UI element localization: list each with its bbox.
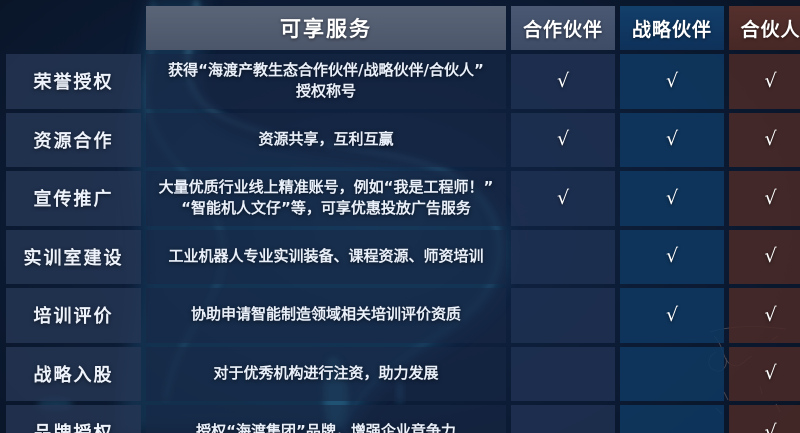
desc-line: 协助申请智能制造领域相关培训评价资质 bbox=[191, 304, 461, 326]
cell-partner: √ bbox=[511, 171, 615, 226]
check-icon: √ bbox=[764, 130, 776, 149]
row-label: 资源合作 bbox=[6, 113, 141, 168]
check-icon: √ bbox=[666, 189, 678, 208]
cell-strategic-partner: √ bbox=[620, 405, 724, 433]
row-label: 实训室建设 bbox=[6, 230, 141, 285]
check-icon: √ bbox=[557, 130, 569, 149]
desc-line: 授权称号 bbox=[168, 81, 484, 103]
cell-shareholder: √ bbox=[729, 171, 800, 226]
row-description: 授权“海渡集团”品牌，增强企业竞争力 bbox=[146, 405, 506, 433]
cell-shareholder: √ bbox=[729, 54, 800, 109]
cell-strategic-partner: √ bbox=[620, 171, 724, 226]
cell-partner: √ bbox=[511, 113, 615, 168]
row-description: 大量优质行业线上精准账号，例如“我是工程师！”“智能机人文仔”等，可享优惠投放广… bbox=[146, 171, 506, 226]
desc-line: 工业机器人专业实训装备、课程资源、师资培训 bbox=[168, 246, 483, 268]
check-icon: √ bbox=[764, 423, 776, 433]
row-description: 资源共享，互利互赢 bbox=[146, 113, 506, 168]
desc-line: 获得“海渡产教生态合作伙伴/战略伙伴/合伙人” bbox=[168, 60, 484, 82]
check-icon: √ bbox=[764, 189, 776, 208]
cell-partner: √ bbox=[511, 230, 615, 285]
row-label: 战略入股 bbox=[6, 347, 141, 402]
cell-partner: √ bbox=[511, 405, 615, 433]
check-icon: √ bbox=[666, 130, 678, 149]
desc-line: “智能机人文仔”等，可享优惠投放广告服务 bbox=[159, 198, 494, 220]
table-header-partner: 合作伙伴 bbox=[511, 6, 615, 50]
cell-shareholder: √ bbox=[729, 347, 800, 402]
desc-line: 对于优秀机构进行注资，助力发展 bbox=[213, 363, 438, 385]
cell-strategic-partner: √ bbox=[620, 230, 724, 285]
cell-strategic-partner: √ bbox=[620, 347, 724, 402]
desc-line: 大量优质行业线上精准账号，例如“我是工程师！” bbox=[159, 177, 494, 199]
row-label: 培训评价 bbox=[6, 288, 141, 343]
check-icon: √ bbox=[557, 189, 569, 208]
row-description: 对于优秀机构进行注资，助力发展 bbox=[146, 347, 506, 402]
check-icon: √ bbox=[764, 364, 776, 383]
check-icon: √ bbox=[666, 72, 678, 91]
check-icon: √ bbox=[764, 247, 776, 266]
table-header-strategic-partner: 战略伙伴 bbox=[620, 6, 724, 50]
cell-partner: √ bbox=[511, 288, 615, 343]
table-header-service: 可享服务 bbox=[146, 6, 506, 50]
check-icon: √ bbox=[764, 306, 776, 325]
table-header-blank bbox=[6, 6, 141, 50]
row-label: 品牌授权 bbox=[6, 405, 141, 433]
check-icon: √ bbox=[764, 72, 776, 91]
check-icon: √ bbox=[666, 306, 678, 325]
cell-partner: √ bbox=[511, 54, 615, 109]
desc-line: 资源共享，互利互赢 bbox=[258, 129, 393, 151]
row-description: 工业机器人专业实训装备、课程资源、师资培训 bbox=[146, 230, 506, 285]
table-header-shareholder: 合伙人 bbox=[729, 6, 800, 50]
row-description: 获得“海渡产教生态合作伙伴/战略伙伴/合伙人”授权称号 bbox=[146, 54, 506, 109]
cell-shareholder: √ bbox=[729, 288, 800, 343]
cell-strategic-partner: √ bbox=[620, 113, 724, 168]
desc-line: 授权“海渡集团”品牌，增强企业竞争力 bbox=[196, 421, 456, 433]
row-label: 荣誉授权 bbox=[6, 54, 141, 109]
cell-shareholder: √ bbox=[729, 405, 800, 433]
slide-stage: 可享服务 合作伙伴 战略伙伴 合伙人 荣誉授权 获得“海渡产教生态合作伙伴/战略… bbox=[0, 0, 800, 433]
row-description: 协助申请智能制造领域相关培训评价资质 bbox=[146, 288, 506, 343]
cell-shareholder: √ bbox=[729, 113, 800, 168]
cell-partner: √ bbox=[511, 347, 615, 402]
benefits-comparison-table: 可享服务 合作伙伴 战略伙伴 合伙人 荣誉授权 获得“海渡产教生态合作伙伴/战略… bbox=[0, 0, 800, 433]
cell-strategic-partner: √ bbox=[620, 288, 724, 343]
cell-shareholder: √ bbox=[729, 230, 800, 285]
cell-strategic-partner: √ bbox=[620, 54, 724, 109]
row-label: 宣传推广 bbox=[6, 171, 141, 226]
check-icon: √ bbox=[666, 247, 678, 266]
check-icon: √ bbox=[557, 72, 569, 91]
